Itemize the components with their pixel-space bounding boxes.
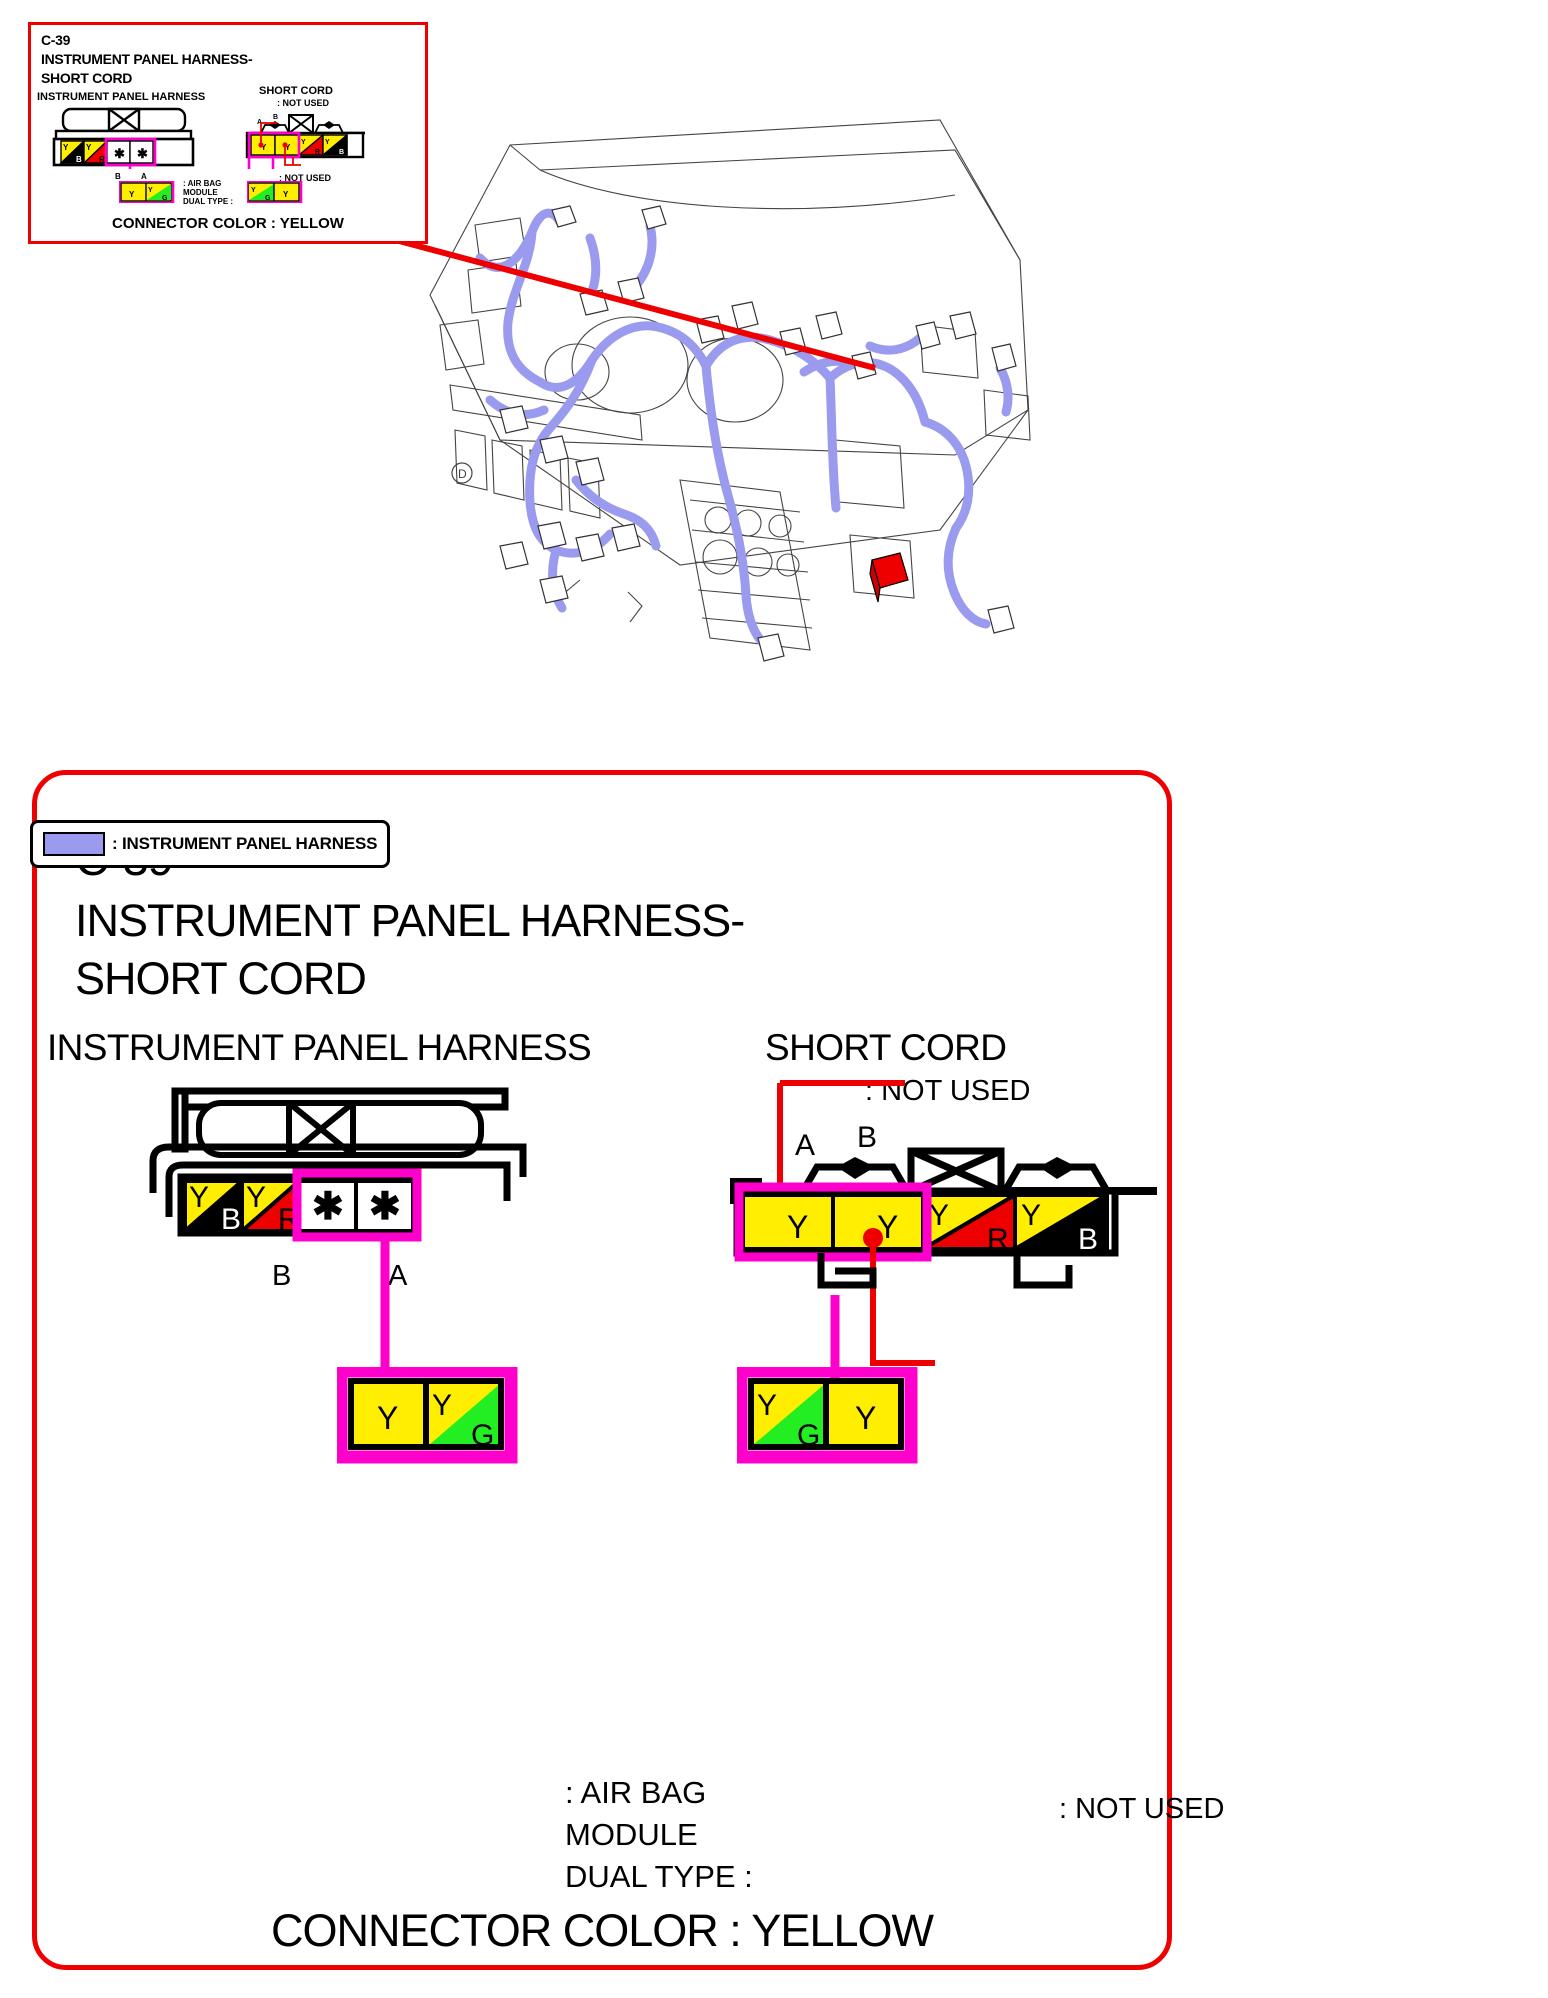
svg-text:Y: Y — [283, 190, 289, 199]
svg-text:Y: Y — [129, 190, 135, 199]
c39-connector-marker — [870, 553, 908, 602]
panel-left-heading: INSTRUMENT PANEL HARNESS — [47, 1027, 591, 1069]
svg-text:B: B — [76, 155, 82, 164]
inset-pin-a: A — [141, 172, 147, 181]
inset-right-connector: A B Y Y Y R Y B — [243, 107, 373, 169]
inset-airbag-right-connector: Y G Y — [247, 181, 307, 203]
svg-text:Y: Y — [855, 1400, 876, 1436]
svg-text:Y: Y — [63, 143, 69, 152]
svg-text:R: R — [99, 155, 105, 164]
callout-inset-box: C-39 INSTRUMENT PANEL HARNESS- SHORT COR… — [28, 22, 428, 244]
panel-title-line2: SHORT CORD — [75, 953, 366, 1005]
legend-label: : INSTRUMENT PANEL HARNESS — [112, 834, 377, 854]
svg-text:G: G — [797, 1419, 820, 1452]
inset-title-line2: SHORT CORD — [41, 70, 132, 86]
svg-text:Y: Y — [325, 139, 330, 146]
svg-text:B: B — [221, 1203, 241, 1236]
panel-airbag-left-connector: Y Y G — [337, 1367, 527, 1467]
svg-text:Y: Y — [246, 1181, 266, 1214]
svg-text:✱: ✱ — [312, 1186, 344, 1228]
svg-text:✱: ✱ — [369, 1186, 401, 1228]
svg-text:Y: Y — [189, 1181, 209, 1214]
panel-pin-label-a: A — [388, 1260, 407, 1293]
svg-text:Y: Y — [432, 1389, 452, 1422]
svg-text:Y: Y — [1021, 1199, 1041, 1232]
svg-text:✱: ✱ — [137, 146, 148, 161]
inset-airbag-label: : AIR BAGMODULEDUAL TYPE : — [183, 179, 233, 206]
svg-text:B: B — [857, 1121, 877, 1154]
inset-airbag-left-connector: Y Y G — [119, 181, 179, 203]
harness-color-swatch — [43, 832, 105, 856]
svg-text:R: R — [315, 149, 320, 156]
inset-code: C-39 — [41, 32, 70, 48]
panel-title-line1: INSTRUMENT PANEL HARNESS- — [75, 895, 744, 947]
svg-text:Y: Y — [251, 187, 256, 194]
panel-connector-color: CONNECTOR COLOR : YELLOW — [37, 1905, 1167, 1957]
panel-airbag-line3: DUAL TYPE : — [565, 1859, 753, 1895]
svg-text:Y: Y — [757, 1389, 777, 1422]
panel-airbag-line2: MODULE — [565, 1817, 698, 1853]
inset-right-heading: SHORT CORD — [259, 85, 333, 97]
panel-not-used-bottom: : NOT USED — [1059, 1793, 1224, 1826]
panel-short-cord-connector: A B Y Y Y R Y B — [725, 1073, 1165, 1323]
svg-text:Y: Y — [148, 187, 153, 194]
svg-text:B: B — [339, 149, 344, 156]
svg-text:B: B — [1078, 1223, 1098, 1256]
svg-text:Y: Y — [929, 1199, 949, 1232]
svg-text:D: D — [458, 467, 467, 481]
svg-text:G: G — [162, 195, 168, 202]
svg-text:R: R — [987, 1223, 1009, 1256]
svg-text:B: B — [273, 114, 278, 121]
inset-pin-b: B — [115, 172, 121, 181]
svg-text:A: A — [795, 1129, 815, 1162]
panel-instrument-harness-connector: Y B Y R ✱ ✱ — [137, 1085, 557, 1295]
panel-pin-label-b: B — [272, 1260, 291, 1293]
svg-text:G: G — [471, 1419, 494, 1452]
instrument-panel-illustration: D — [380, 110, 1060, 670]
panel-right-heading: SHORT CORD — [765, 1027, 1006, 1069]
detail-panel: C-39 INSTRUMENT PANEL HARNESS- SHORT COR… — [32, 770, 1172, 1970]
svg-text:Y: Y — [377, 1400, 398, 1436]
svg-text:Y: Y — [86, 143, 92, 152]
inset-left-connector: Y B Y R ✱ ✱ — [51, 107, 206, 169]
svg-text:✱: ✱ — [114, 146, 125, 161]
panel-airbag-line1: : AIR BAG — [565, 1775, 706, 1811]
svg-text:Y: Y — [787, 1209, 808, 1245]
svg-text:G: G — [265, 195, 271, 202]
panel-airbag-right-connector: Y G Y — [737, 1367, 927, 1467]
inset-connector-color: CONNECTOR COLOR : YELLOW — [31, 215, 425, 232]
svg-text:Y: Y — [301, 139, 306, 146]
inset-left-heading: INSTRUMENT PANEL HARNESS — [37, 91, 205, 103]
inset-title-line1: INSTRUMENT PANEL HARNESS- — [41, 51, 252, 67]
legend-box: : INSTRUMENT PANEL HARNESS — [30, 820, 390, 868]
